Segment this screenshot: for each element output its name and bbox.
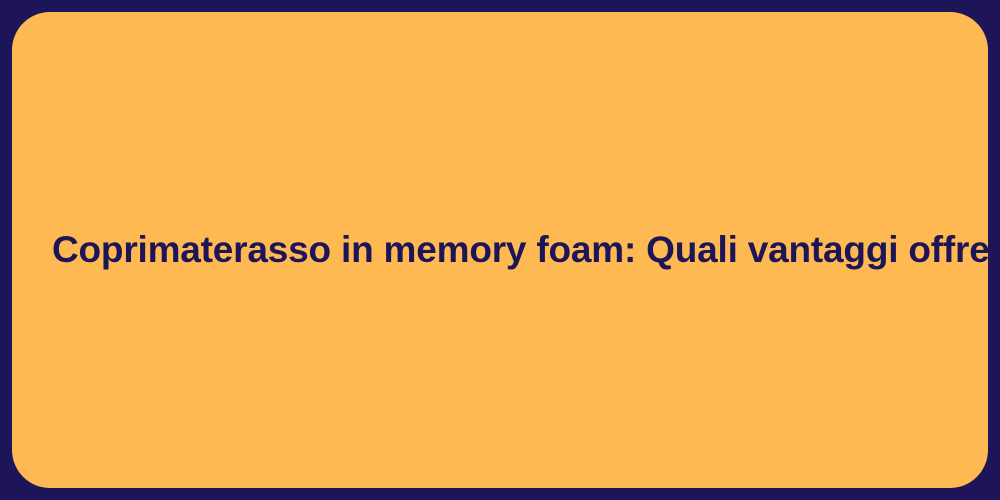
banner-panel: Coprimaterasso in memory foam: Quali van… [12, 12, 988, 488]
heading-container: Coprimaterasso in memory foam: Quali van… [12, 227, 988, 273]
banner-frame: Coprimaterasso in memory foam: Quali van… [0, 0, 1000, 500]
page-title: Coprimaterasso in memory foam: Quali van… [52, 227, 948, 273]
